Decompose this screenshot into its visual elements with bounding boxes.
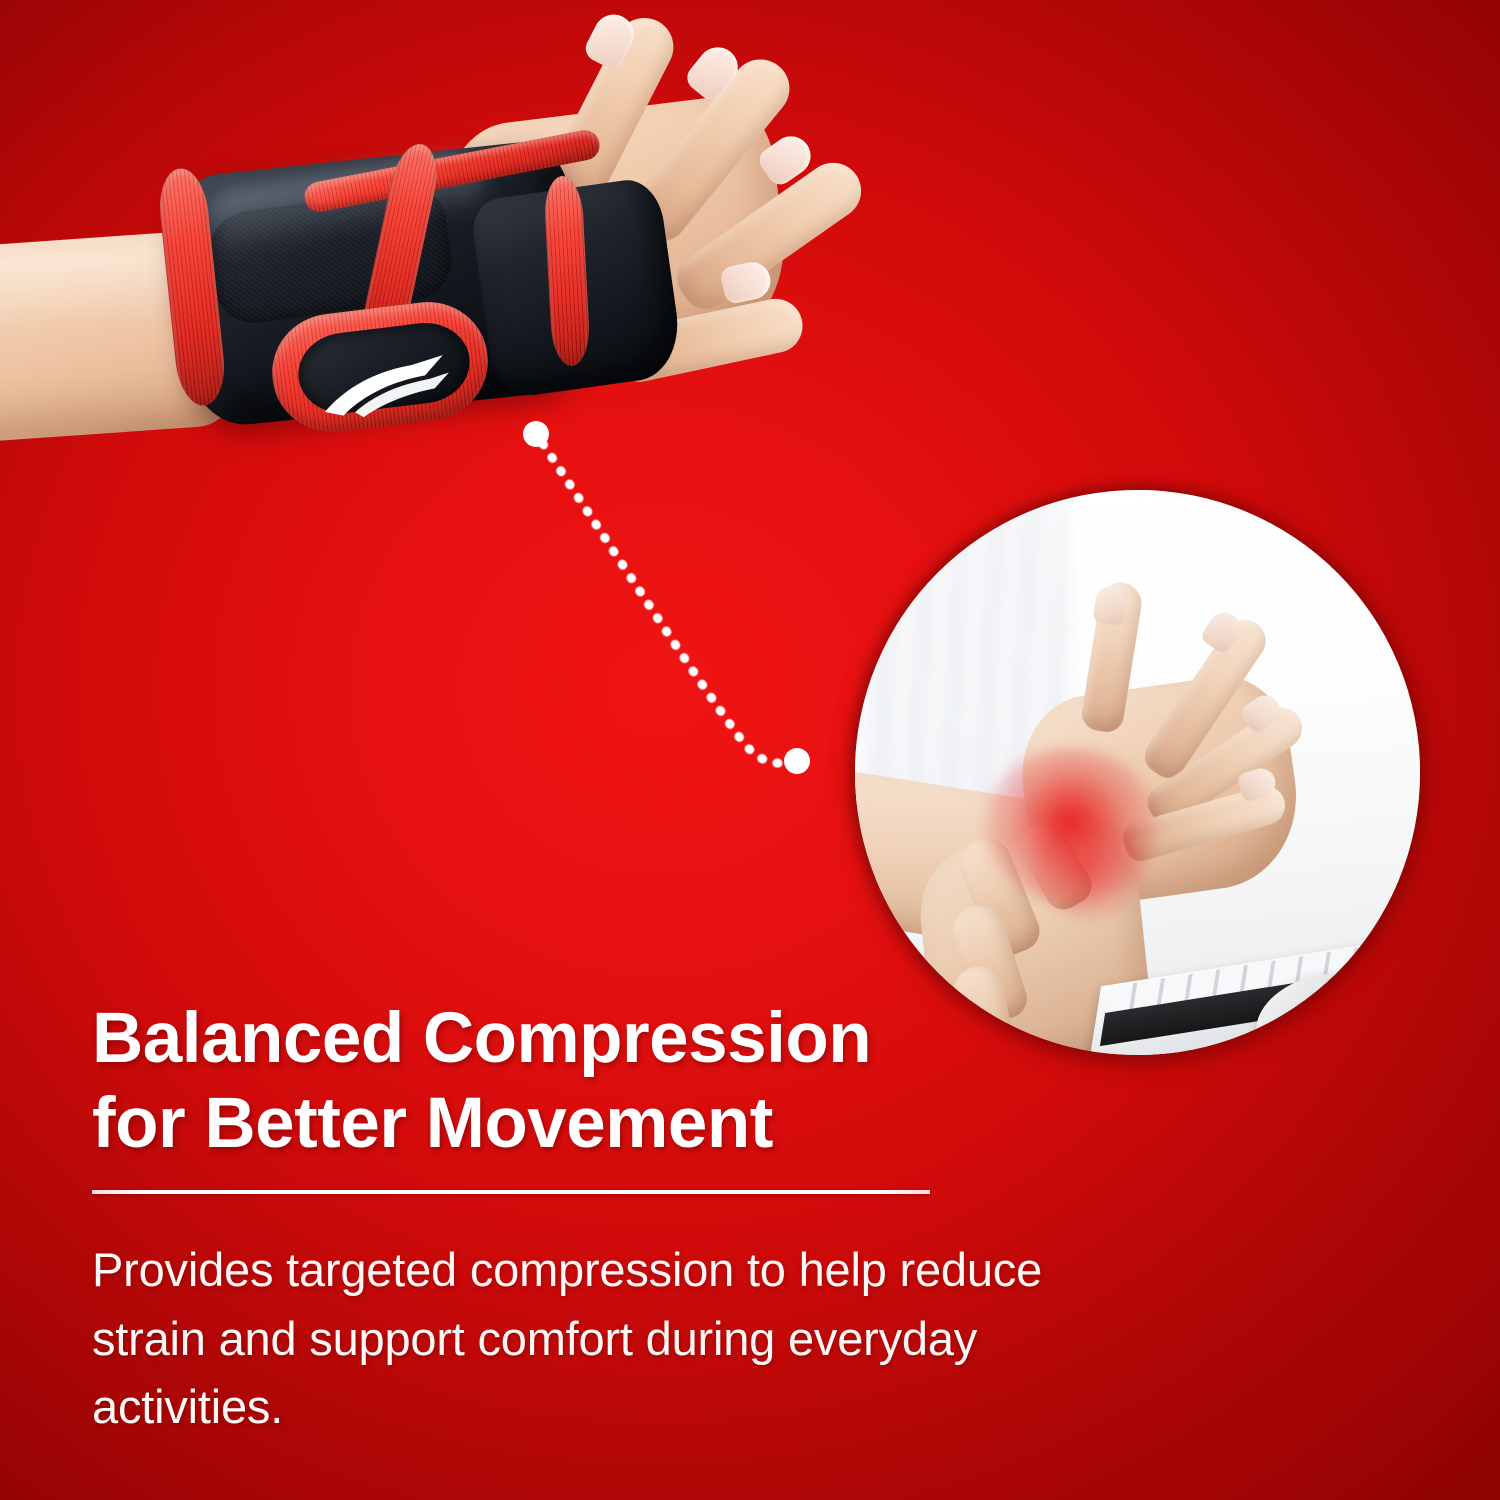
product-banner: Balanced Compression for Better Movement… xyxy=(0,0,1500,1500)
inset-circle-wrist-pain xyxy=(855,490,1420,1055)
pain-marker-secondary-icon xyxy=(1033,820,1143,918)
product-photo-wrist-brace xyxy=(0,0,992,460)
page-title: Balanced Compression for Better Movement xyxy=(92,996,972,1166)
body-description: Provides targeted compression to help re… xyxy=(92,1236,1082,1442)
headline-line-2: for Better Movement xyxy=(92,1081,972,1166)
headline-line-1: Balanced Compression xyxy=(92,996,972,1081)
divider xyxy=(92,1190,930,1194)
